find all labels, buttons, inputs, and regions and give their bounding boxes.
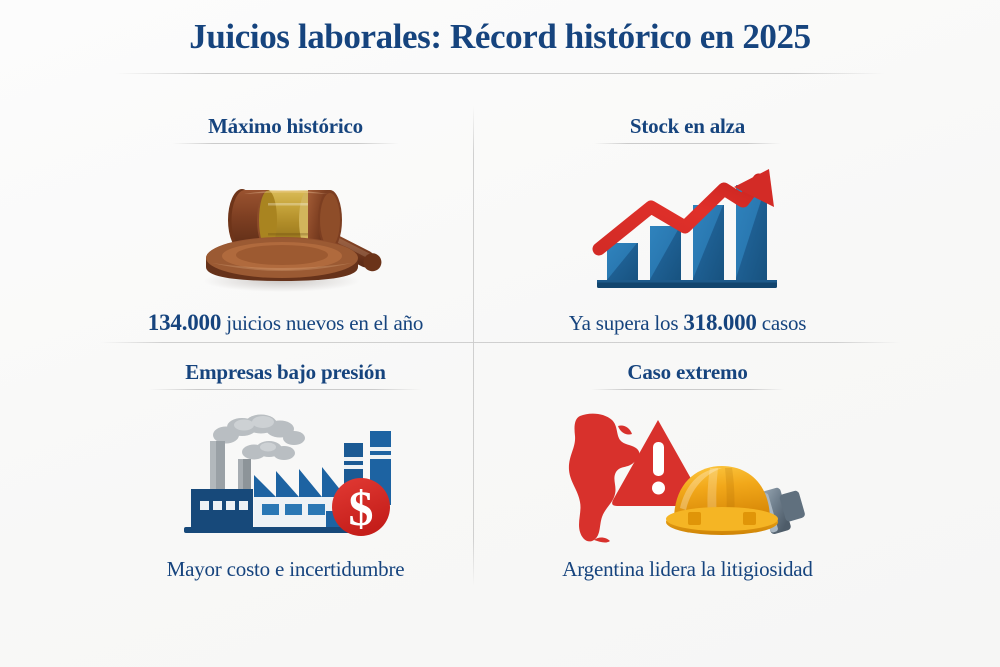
- factory-dollar-icon: $: [158, 411, 413, 537]
- dollar-sign-icon: $: [349, 480, 374, 536]
- card-caption: Mayor costo e incertidumbre: [167, 557, 405, 582]
- infographic-canvas: Juicios laborales: Récord histórico en 2…: [0, 0, 1000, 667]
- card-heading: Empresas bajo presión: [185, 360, 385, 390]
- card-caption: Ya supera los 318.000 casos: [569, 310, 807, 336]
- caption-text: juicios nuevos en el año: [221, 311, 423, 335]
- horizontal-divider: [100, 342, 900, 343]
- title-divider: [115, 73, 885, 74]
- vertical-divider: [473, 106, 474, 586]
- card-maximo-historico: Máximo histórico: [98, 102, 473, 342]
- growth-chart-illustration: [500, 144, 875, 310]
- factory-windows: [262, 504, 325, 515]
- caption-lead: Ya supera los: [569, 311, 684, 335]
- gavel-icon: [178, 163, 393, 291]
- caption-number: 134.000: [148, 310, 221, 335]
- argentina-warning-helmet-icon: [560, 404, 815, 544]
- page-title: Juicios laborales: Récord histórico en 2…: [0, 16, 1000, 58]
- growth-bar-chart-icon: [593, 163, 783, 291]
- cards-grid: Máximo histórico: [98, 98, 904, 598]
- card-caption: Argentina lidera la litigiosidad: [562, 557, 812, 582]
- card-heading: Stock en alza: [630, 114, 745, 144]
- card-caption: 134.000 juicios nuevos en el año: [148, 310, 423, 336]
- factory-illustration: $: [98, 390, 473, 557]
- caption-text: casos: [757, 311, 807, 335]
- card-heading: Máximo histórico: [208, 114, 363, 144]
- argentina-risk-illustration: [500, 390, 875, 557]
- card-stock-en-alza: Stock en alza: [500, 102, 875, 342]
- title-zone: Juicios laborales: Récord histórico en 2…: [0, 16, 1000, 58]
- card-empresas-bajo-presion: Empresas bajo presión: [98, 348, 473, 588]
- bar-1: [607, 243, 638, 281]
- card-heading: Caso extremo: [627, 360, 747, 390]
- gavel-illustration: [98, 144, 473, 310]
- factory-ground: [184, 527, 354, 533]
- card-caso-extremo: Caso extremo: [500, 348, 875, 588]
- caption-number: 318.000: [683, 310, 756, 335]
- bar-2: [650, 226, 681, 281]
- factory-sawtooth-roof: [254, 467, 346, 497]
